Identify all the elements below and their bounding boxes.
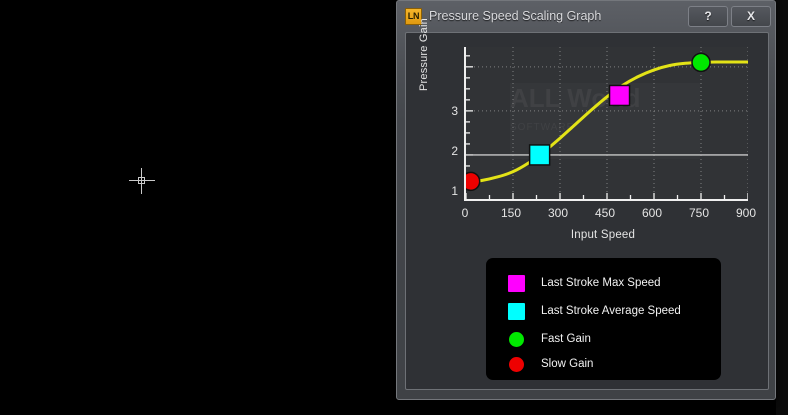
legend-label-max-speed: Last Stroke Max Speed (541, 277, 661, 289)
x-tick-label-450: 450 (588, 207, 622, 219)
plot-area: ALL World SOFTWARE (464, 47, 748, 201)
x-axis-title: Input Speed (458, 229, 748, 241)
pressure-speed-scaling-graph-window: LN Pressure Speed Scaling Graph ? X Pres… (396, 0, 776, 400)
legend-swatch-red-circle (509, 357, 524, 372)
legend-item-max-speed: Last Stroke Max Speed (508, 272, 661, 294)
legend-label-fast-gain: Fast Gain (541, 333, 591, 345)
x-tick-label-750: 750 (682, 207, 716, 219)
y-tick-label-2: 2 (440, 145, 458, 157)
y-tick-label-1: 1 (440, 185, 458, 197)
x-tick-label-300: 300 (541, 207, 575, 219)
y-axis-title: Pressure Gain (418, 77, 430, 91)
close-button[interactable]: X (731, 6, 771, 27)
x-tick-label-600: 600 (635, 207, 669, 219)
crosshair-center-box (138, 177, 145, 184)
legend-item-fast-gain: Fast Gain (508, 328, 591, 350)
legend-swatch-magenta-square (508, 275, 525, 292)
legend-swatch-green-circle (509, 332, 524, 347)
window-title: Pressure Speed Scaling Graph (429, 9, 685, 23)
window-content-panel: Pressure Gain 3 2 1 0 150 300 450 600 75… (405, 32, 769, 390)
x-tick-label-900: 900 (729, 207, 763, 219)
pressure-speed-chart: Pressure Gain 3 2 1 0 150 300 450 600 75… (418, 39, 758, 249)
x-tick-label-150: 150 (494, 207, 528, 219)
crosshair-cursor (129, 168, 155, 194)
y-tick-label-3: 3 (440, 105, 458, 117)
legend-item-average-speed: Last Stroke Average Speed (508, 300, 681, 322)
legend-label-slow-gain: Slow Gain (541, 358, 593, 370)
chart-legend: Last Stroke Max Speed Last Stroke Averag… (486, 258, 721, 380)
legend-item-slow-gain: Slow Gain (508, 353, 593, 375)
help-button[interactable]: ? (688, 6, 728, 27)
desktop-right-strip (776, 0, 788, 415)
legend-swatch-cyan-square (508, 303, 525, 320)
data-point-markers (466, 53, 710, 190)
legend-label-average-speed: Last Stroke Average Speed (541, 305, 681, 317)
window-titlebar[interactable]: LN Pressure Speed Scaling Graph ? X (397, 1, 775, 31)
x-tick-label-0: 0 (448, 207, 482, 219)
plot-svg (466, 47, 748, 199)
